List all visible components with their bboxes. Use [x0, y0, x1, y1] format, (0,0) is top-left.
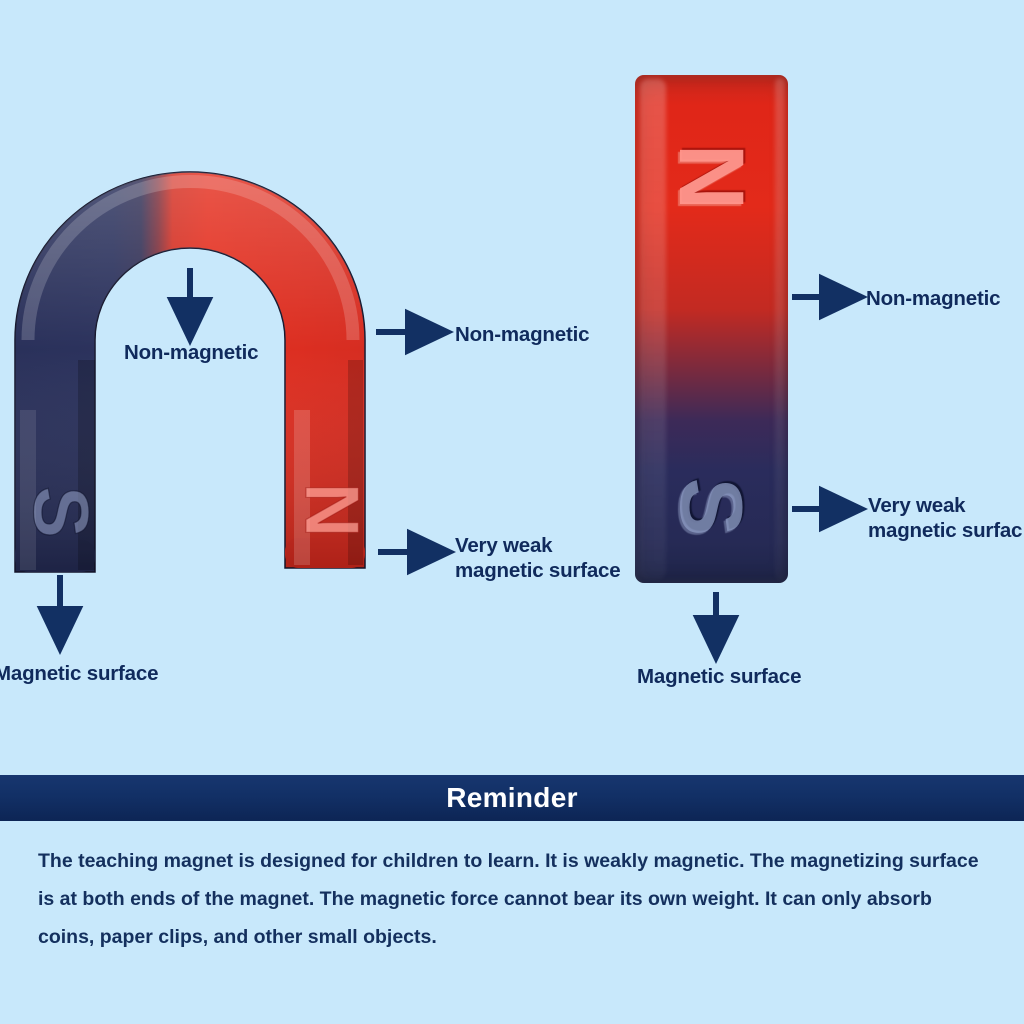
- reminder-title: Reminder: [446, 782, 578, 814]
- label-hs-side-nonmagnetic: Non-magnetic: [455, 322, 589, 347]
- callout-arrows: [0, 0, 1024, 773]
- label-bar-magnetic-surface: Magnetic surface: [637, 664, 801, 689]
- label-bar-nonmagnetic: Non-magnetic: [866, 286, 1000, 311]
- label-hs-veryweak-line2: magnetic surface: [455, 558, 620, 583]
- label-bar-veryweak-line1: Very weak: [868, 493, 965, 518]
- label-hs-magnetic-surface: Magnetic surface: [0, 661, 158, 686]
- label-hs-veryweak-line1: Very weak: [455, 533, 552, 558]
- product-infographic: S N N S: [0, 0, 1024, 1024]
- magnet-diagram: S N N S: [0, 0, 1024, 773]
- label-bar-veryweak-line2: magnetic surfac: [868, 518, 1022, 543]
- label-hs-top-nonmagnetic: Non-magnetic: [124, 340, 258, 365]
- reminder-header-bar: Reminder: [0, 775, 1024, 821]
- reminder-body-text: The teaching magnet is designed for chil…: [38, 842, 990, 956]
